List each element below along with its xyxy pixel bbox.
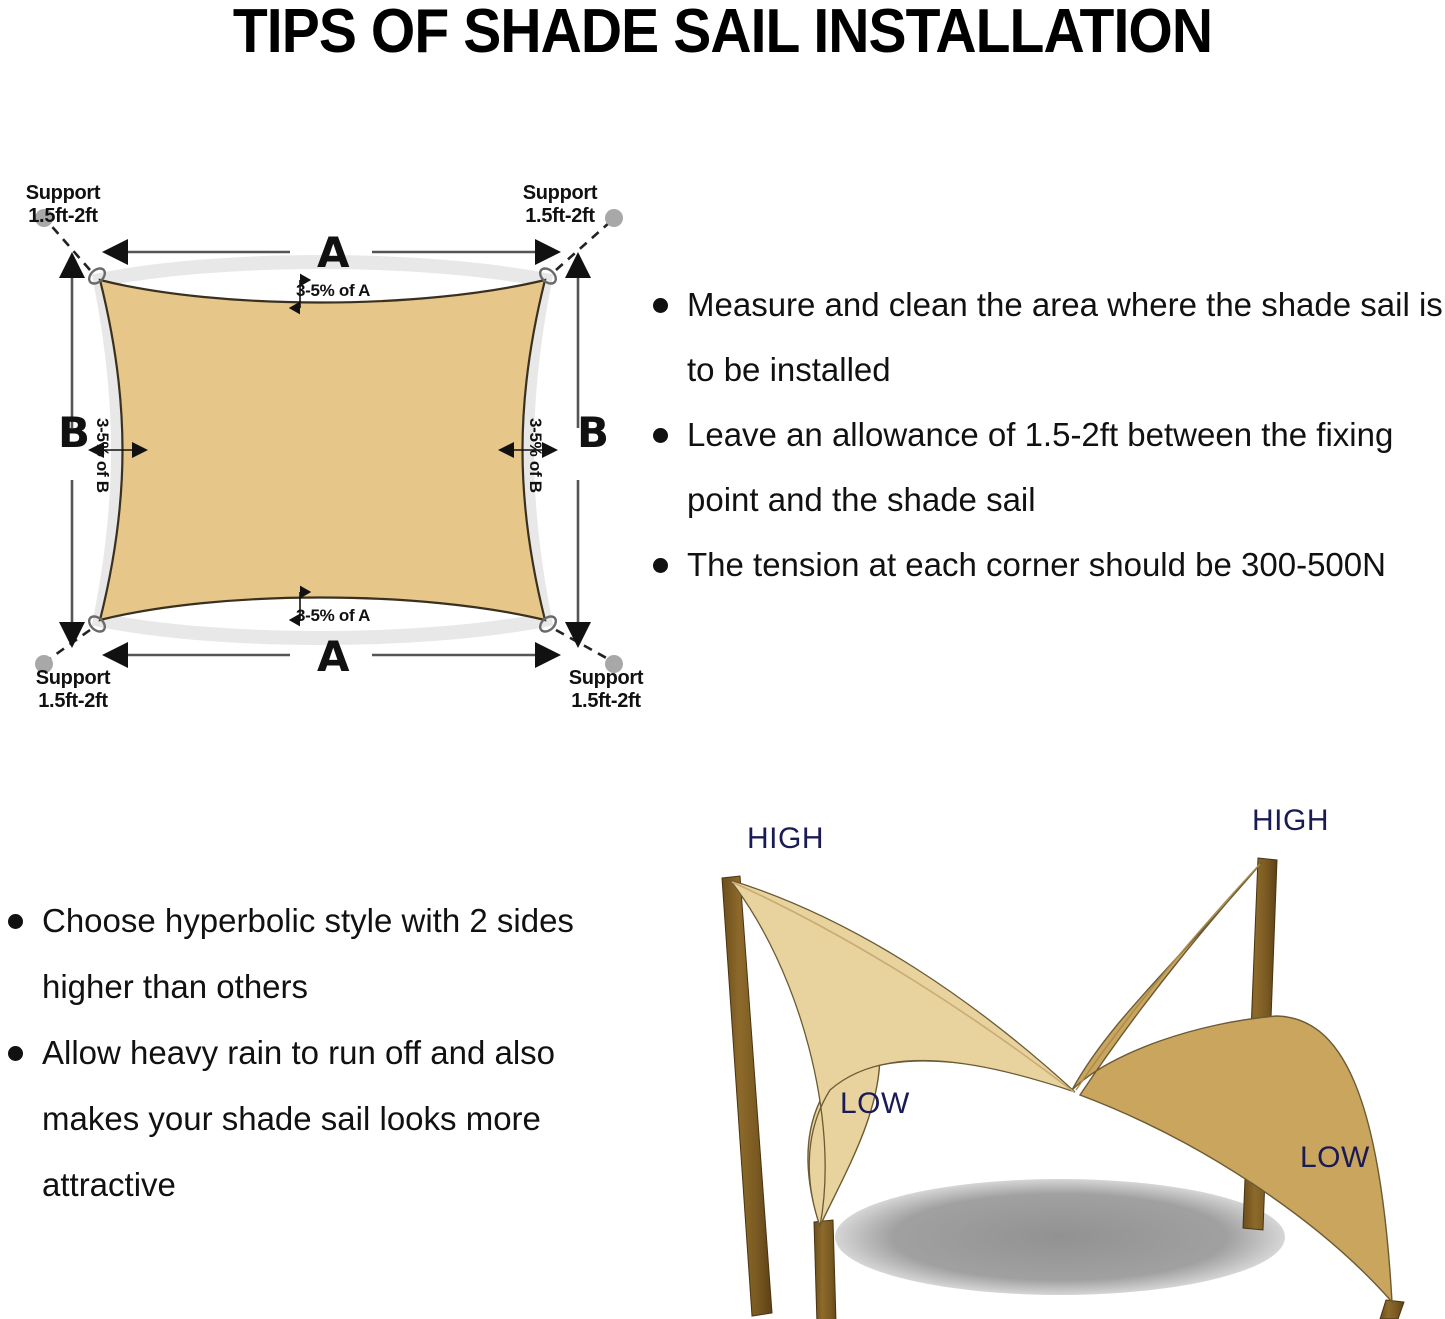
hyperbolic-style-notes-list: Choose hyperbolic style with 2 sides hig…	[0, 888, 620, 1218]
post-low-left	[814, 1220, 838, 1319]
dimension-letter-bottom-a: A	[317, 632, 350, 681]
dimension-letter-left-b: B	[58, 408, 90, 457]
list-item: Leave an allowance of 1.5-2ft between th…	[645, 402, 1445, 532]
sail-surface-front-body	[730, 880, 1075, 1226]
label-high-left: HIGH	[747, 822, 824, 856]
list-item: Measure and clean the area where the sha…	[645, 272, 1445, 402]
curvature-label-bottom: 3-5% of A	[296, 606, 370, 626]
curvature-label-top: 3-5% of A	[296, 281, 370, 301]
dimension-letter-top-a: A	[317, 228, 350, 277]
list-item: The tension at each corner should be 300…	[645, 532, 1445, 597]
ground-shadow	[835, 1179, 1285, 1295]
support-label-top-right: Support1.5ft-2ft	[505, 182, 615, 228]
infographic-page: TIPS OF SHADE SAIL INSTALLATION	[0, 0, 1445, 1319]
dimension-letter-right-b: B	[577, 408, 609, 457]
shade-sail-shape	[100, 280, 545, 620]
page-title: TIPS OF SHADE SAIL INSTALLATION	[58, 0, 1387, 67]
support-label-top-left: Support1.5ft-2ft	[8, 182, 118, 228]
list-item: Allow heavy rain to run off and also mak…	[0, 1020, 620, 1218]
label-low-right: LOW	[1300, 1141, 1370, 1175]
list-item: Choose hyperbolic style with 2 sides hig…	[0, 888, 620, 1020]
support-label-bottom-left: Support1.5ft-2ft	[18, 667, 128, 713]
post-high-left	[722, 876, 772, 1316]
hyperbolic-sail-illustration	[680, 790, 1445, 1319]
label-high-right: HIGH	[1252, 804, 1329, 838]
curvature-label-right: 3-5% of B	[525, 418, 545, 493]
support-label-bottom-right: Support1.5ft-2ft	[551, 667, 661, 713]
installation-tips-list: Measure and clean the area where the sha…	[645, 272, 1445, 597]
curvature-label-left: 3-5% of B	[92, 418, 112, 493]
label-low-left: LOW	[840, 1087, 910, 1121]
